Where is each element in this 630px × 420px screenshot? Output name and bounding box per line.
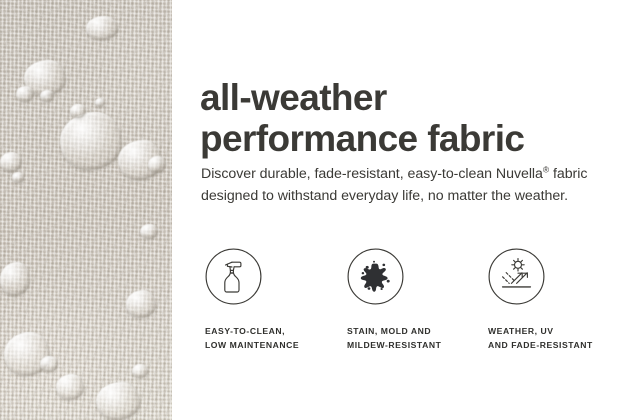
brand-name: Nuvella [496, 166, 543, 182]
feature-list: EASY-TO-CLEAN, LOW MAINTENANCE [200, 248, 630, 358]
description-line-3: no matter the weather. [428, 188, 568, 204]
feature-item-stain-resistant: STAIN, MOLD AND MILDEW-RESISTANT [347, 248, 487, 352]
sun-uv-reflect-icon [488, 248, 545, 305]
water-droplet [0, 152, 22, 172]
feature-item-easy-to-clean: EASY-TO-CLEAN, LOW MAINTENANCE [205, 248, 345, 352]
water-droplet [132, 364, 148, 378]
promo-banner: all-weather performance fabric Discover … [0, 0, 630, 420]
water-droplet [70, 104, 86, 118]
feature-item-weather-uv-resistant: WEATHER, UV AND FADE-RESISTANT [488, 248, 628, 352]
water-droplet [126, 290, 156, 318]
spray-bottle-icon [205, 248, 262, 305]
description-line-1: Discover durable, fade-resistant, easy-t… [201, 166, 492, 182]
feature-label: STAIN, MOLD AND MILDEW-RESISTANT [347, 325, 487, 352]
content-column: all-weather performance fabric Discover … [200, 0, 630, 420]
feature-label: EASY-TO-CLEAN, LOW MAINTENANCE [205, 325, 345, 352]
page-title: all-weather performance fabric [200, 77, 630, 159]
water-droplet [86, 16, 118, 40]
water-droplet [95, 98, 105, 107]
water-droplet [140, 224, 158, 239]
feature-label: WEATHER, UV AND FADE-RESISTANT [488, 325, 628, 352]
stain-splat-icon [347, 248, 404, 305]
water-droplet [12, 172, 24, 183]
water-droplet [96, 382, 140, 420]
fabric-photo [0, 0, 172, 420]
water-droplet [0, 262, 30, 296]
water-droplet [40, 90, 54, 102]
water-droplet [148, 156, 166, 173]
water-droplet [16, 86, 34, 102]
water-droplet [60, 112, 122, 170]
water-droplet [40, 356, 58, 372]
water-droplet [56, 374, 84, 400]
description-text: Discover durable, fade-resistant, easy-t… [201, 164, 601, 207]
